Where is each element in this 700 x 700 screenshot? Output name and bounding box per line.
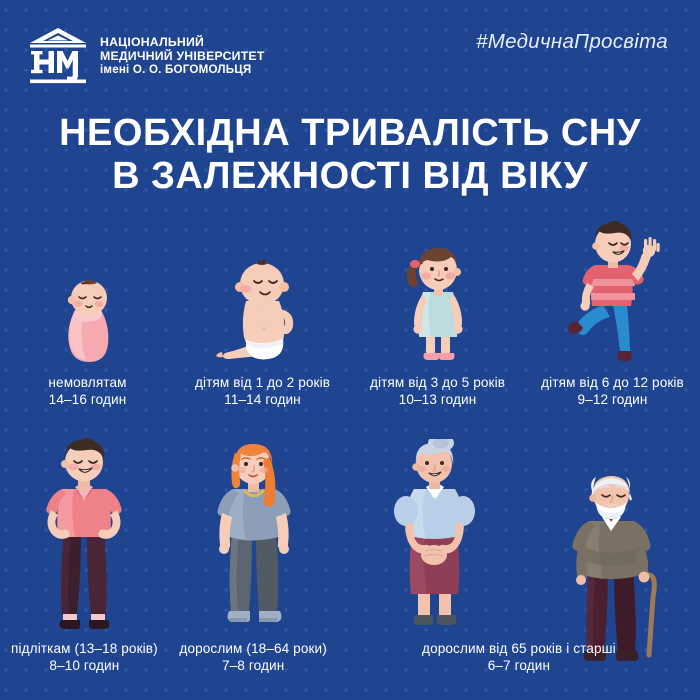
caption-hours: 9–12 годин bbox=[541, 391, 684, 408]
caption-hours: 7–8 годин bbox=[179, 657, 326, 674]
caption-infants: немовлятам 14–16 годин bbox=[48, 374, 126, 408]
caption-hours: 11–14 годин bbox=[195, 391, 330, 408]
age-group-teens-13-18: підліткам (13–18 років) 8–10 годин bbox=[0, 424, 169, 674]
title-line-2: В ЗАЛЕЖНОСТІ ВІД ВІКУ bbox=[0, 155, 700, 198]
teen-boy-illustration-icon bbox=[29, 437, 139, 633]
age-group-toddlers-1-2: дітям від 1 до 2 років 11–14 годин bbox=[175, 228, 350, 408]
age-group-row-bottom: підліткам (13–18 років) 8–10 годин bbox=[0, 424, 700, 674]
caption-age: дітям від 6 до 12 років bbox=[541, 375, 684, 390]
nmu-building-logo-icon bbox=[26, 26, 90, 86]
caption-hours: 14–16 годин bbox=[48, 391, 126, 408]
caption-age: дітям від 3 до 5 років bbox=[370, 375, 505, 390]
swaddled-baby-illustration-icon bbox=[53, 228, 123, 367]
brand-text: НАЦІОНАЛЬНИЙ МЕДИЧНИЙ УНІВЕРСИТЕТ імені … bbox=[100, 36, 265, 77]
caption-age: дорослим (18–64 роки) bbox=[179, 641, 326, 656]
caption-adults: дорослим (18–64 роки) 7–8 годин bbox=[179, 640, 326, 674]
age-group-preschool-3-5: дітям від 3 до 5 років 10–13 годин bbox=[350, 228, 525, 408]
age-group-adults-18-64: дорослим (18–64 роки) 7–8 годин bbox=[169, 424, 338, 674]
infographic-page: НАЦІОНАЛЬНИЙ МЕДИЧНИЙ УНІВЕРСИТЕТ імені … bbox=[0, 0, 700, 700]
caption-toddlers: дітям від 1 до 2 років 11–14 годин bbox=[195, 374, 330, 408]
caption-age: підліткам (13–18 років) bbox=[11, 641, 158, 656]
brand-line-3: імені О. О. БОГОМОЛЬЦЯ bbox=[100, 63, 265, 76]
running-boy-illustration-icon bbox=[553, 217, 673, 367]
hashtag: #МедичнаПросвіта bbox=[476, 30, 668, 54]
caption-preschool: дітям від 3 до 5 років 10–13 годин bbox=[370, 374, 505, 408]
age-group-elderly-man bbox=[531, 424, 700, 674]
elderly-man-with-cane-illustration-icon bbox=[556, 471, 676, 667]
header: НАЦІОНАЛЬНИЙ МЕДИЧНИЙ УНІВЕРСИТЕТ імені … bbox=[0, 0, 700, 108]
age-group-older-woman: дорослим від 65 років і старші 6–7 годин bbox=[338, 424, 532, 674]
caption-age: дітям від 1 до 2 років bbox=[195, 375, 330, 390]
caption-school: дітям від 6 до 12 років 9–12 годин bbox=[541, 374, 684, 408]
age-group-infants: немовлятам 14–16 годин bbox=[0, 228, 175, 408]
adult-woman-illustration-icon bbox=[201, 437, 306, 633]
title-line-1: НЕОБХІДНА ТРИВАЛІСТЬ СНУ bbox=[0, 112, 700, 155]
preschool-girl-illustration-icon bbox=[393, 228, 483, 367]
brand-line-2: МЕДИЧНИЙ УНІВЕРСИТЕТ bbox=[100, 50, 265, 64]
caption-hours: 6–7 годин bbox=[422, 657, 616, 674]
caption-teens: підліткам (13–18 років) 8–10 годин bbox=[11, 640, 158, 674]
caption-age: дорослим від 65 років і старші bbox=[422, 641, 616, 656]
older-woman-illustration-icon bbox=[382, 437, 487, 633]
age-group-school-6-12: дітям від 6 до 12 років 9–12 годин bbox=[525, 228, 700, 408]
caption-hours: 8–10 годин bbox=[11, 657, 158, 674]
brand-line-1: НАЦІОНАЛЬНИЙ bbox=[100, 36, 265, 50]
caption-age: немовлятам bbox=[48, 375, 126, 390]
sitting-toddler-illustration-icon bbox=[213, 228, 313, 367]
caption-hours: 10–13 годин bbox=[370, 391, 505, 408]
page-title: НЕОБХІДНА ТРИВАЛІСТЬ СНУ В ЗАЛЕЖНОСТІ ВІ… bbox=[0, 112, 700, 199]
brand-block: НАЦІОНАЛЬНИЙ МЕДИЧНИЙ УНІВЕРСИТЕТ імені … bbox=[26, 26, 265, 86]
caption-older-adults: дорослим від 65 років і старші 6–7 годин bbox=[422, 640, 616, 674]
age-group-row-top: немовлятам 14–16 годин bbox=[0, 228, 700, 408]
